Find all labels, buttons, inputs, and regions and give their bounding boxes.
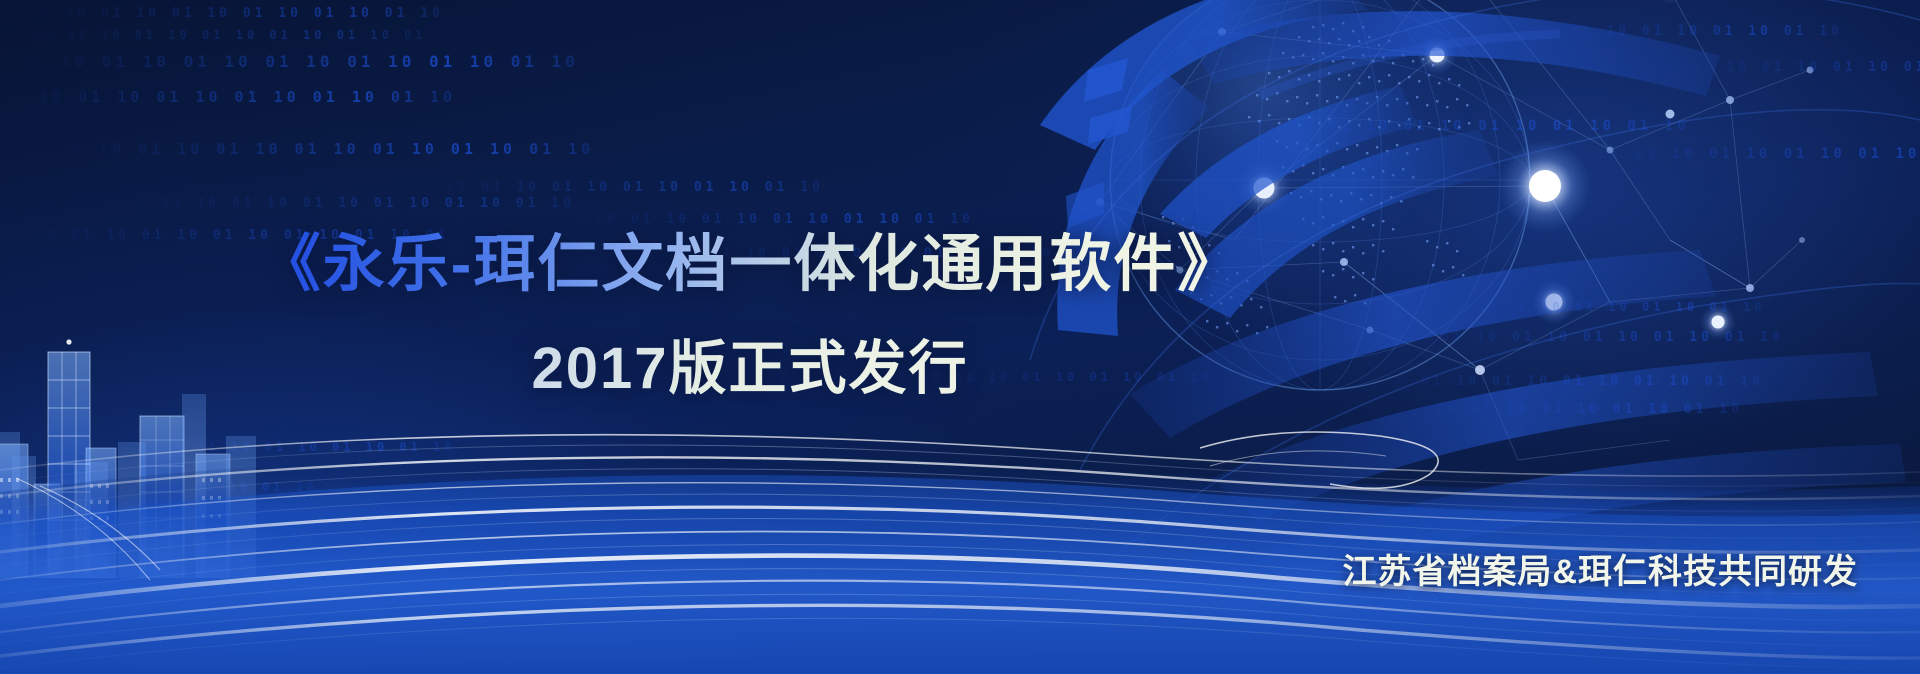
binary-code-row: 01 10 01 10 01 10 01 10 01 10 01 10 01 1…: [90, 196, 575, 211]
binary-code-row: 01 10 01 10 01 10 01 10 01 10 01 10 01 1…: [20, 52, 579, 71]
promo-banner: 01 10 01 10 01 10 01 10 01 10 01 1001 10…: [0, 0, 1920, 674]
binary-code-row: 01 10 01 10 01 10 01 10 01 10 01 10 01: [0, 28, 427, 42]
binary-code-row: 01 10 01 10 01 10 01 10 01 10 01 10 01 1…: [1180, 118, 1690, 134]
page-title: 《永乐-珥仁文档一体化通用软件》: [0, 228, 1500, 301]
binary-code-row: 01 10 01 10 01 10 01 10 01 10 01 10: [1560, 146, 1920, 162]
binary-code-row: 01 10 01 10 01 10 01 10 01 10 01 10: [560, 212, 974, 227]
binary-code-row: 01 10 01 10 01 10 01 10 01 10: [1500, 24, 1843, 39]
binary-code-row: 01 10 01 10 01 10 01 10 01 10 01 10: [0, 88, 456, 106]
page-subtitle: 2017版正式发行: [0, 321, 1500, 405]
credits-tagline: 江苏省档案局&珥仁科技共同研发: [1342, 544, 1858, 593]
headline-block: 《永乐-珥仁文档一体化通用软件》 2017版正式发行: [0, 228, 1500, 405]
binary-code-row: 01 10 01 10 01 10 01 10 01 10 01 10: [30, 6, 444, 21]
light-streaks-graphic: [0, 374, 1920, 674]
binary-code-row: 01 10 01 10 01 10 01 10 01 10 01 10 01 1…: [60, 140, 594, 158]
binary-code-row: 01 10 01 10 01 10 01 10 01 10: [20, 530, 346, 544]
binary-code-row: 01 10 01 10 01 10 01 10 01 10: [130, 440, 456, 454]
binary-code-row: 01 10 01 10 01 10 01 10 01 10 01 10: [410, 180, 824, 195]
binary-code-row: 01 10 01 10 01 10 01 10 01 10 01 10: [1620, 60, 1920, 75]
streaks-svg: [0, 374, 1920, 674]
binary-code-row: 01 10 01 10 01 10 01 10: [60, 480, 318, 494]
